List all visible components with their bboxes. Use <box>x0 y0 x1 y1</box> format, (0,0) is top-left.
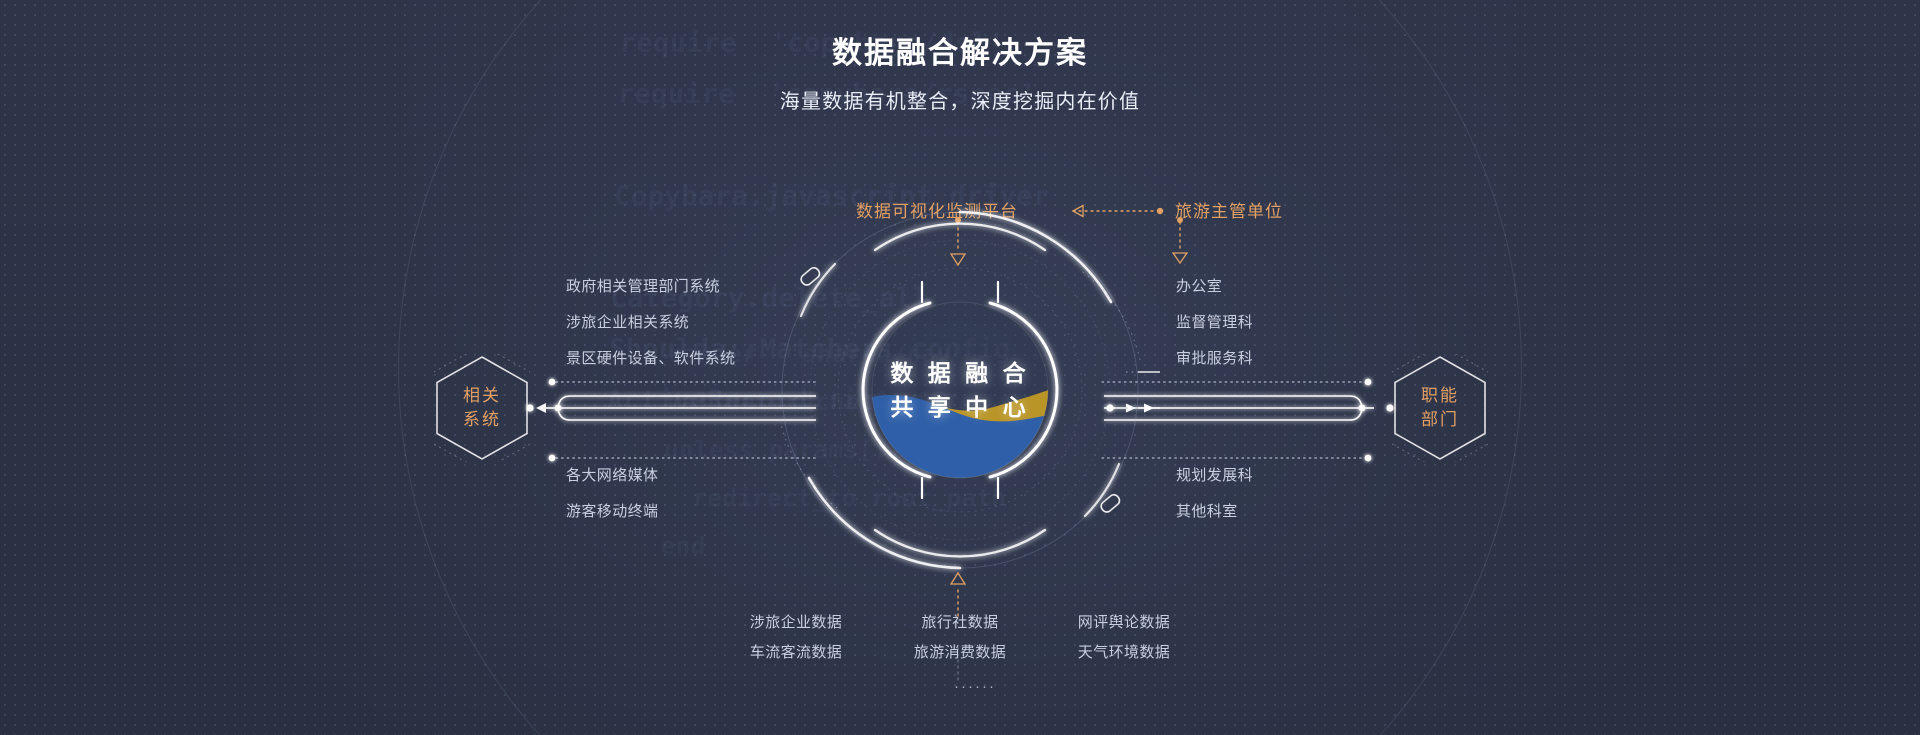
bottom-item-r1c3[interactable]: 网评舆论数据 <box>1063 608 1185 638</box>
right-hexagon-line2: 部门 <box>1421 408 1459 432</box>
core-rings-graphic <box>660 190 1260 590</box>
right-hexagon-node[interactable]: 职能 部门 <box>1392 354 1488 462</box>
bottom-spacer <box>1021 608 1063 638</box>
left-hexagon-line2: 系统 <box>463 408 501 432</box>
core-wave-fill <box>865 302 1060 490</box>
page-title: 数据融合解决方案 <box>0 34 1920 74</box>
bottom-item-r1c2[interactable]: 旅行社数据 <box>899 608 1021 638</box>
right-hexagon-line1: 职能 <box>1421 384 1459 408</box>
left-hexagon-line1: 相关 <box>463 384 501 408</box>
left-bracket-junction-dot <box>555 405 562 412</box>
core-hub[interactable]: 数 据 融 合 共 享 中 心 <box>660 190 1260 590</box>
left-hexagon-node[interactable]: 相关 系统 <box>434 354 530 462</box>
page-subtitle: 海量数据有机整合，深度挖掘内在价值 <box>0 88 1920 116</box>
bottom-item-r2c1[interactable]: 车流客流数据 <box>735 638 857 668</box>
infographic-canvas: require 'copybara/dsl' require 'capybara… <box>0 0 1920 735</box>
bottom-spacer <box>1021 638 1063 668</box>
bottom-spacer <box>857 638 899 668</box>
left-lower-item-0[interactable]: 各大网络媒体 <box>566 466 658 486</box>
bottom-row-2: 车流客流数据 旅游消费数据 天气环境数据 <box>0 638 1920 668</box>
left-hexagon-text: 相关 系统 <box>463 384 501 432</box>
right-bracket-junction-dot <box>1359 405 1366 412</box>
bottom-row-1: 涉旅企业数据 旅行社数据 网评舆论数据 <box>0 608 1920 638</box>
right-hexagon-text: 职能 部门 <box>1421 384 1459 432</box>
bottom-spacer <box>857 608 899 638</box>
bottom-ellipsis: ······ <box>30 678 1920 695</box>
page-header: 数据融合解决方案 海量数据有机整合，深度挖掘内在价值 <box>0 34 1920 116</box>
left-inflow-arrow <box>536 403 546 413</box>
bottom-item-r2c3[interactable]: 天气环境数据 <box>1063 638 1185 668</box>
bottom-data-sources: 涉旅企业数据 旅行社数据 网评舆论数据 车流客流数据 旅游消费数据 天气环境数据… <box>0 608 1920 695</box>
bottom-item-r2c2[interactable]: 旅游消费数据 <box>899 638 1021 668</box>
left-lower-item-1[interactable]: 游客移动终端 <box>566 502 658 522</box>
bottom-item-r1c1[interactable]: 涉旅企业数据 <box>735 608 857 638</box>
